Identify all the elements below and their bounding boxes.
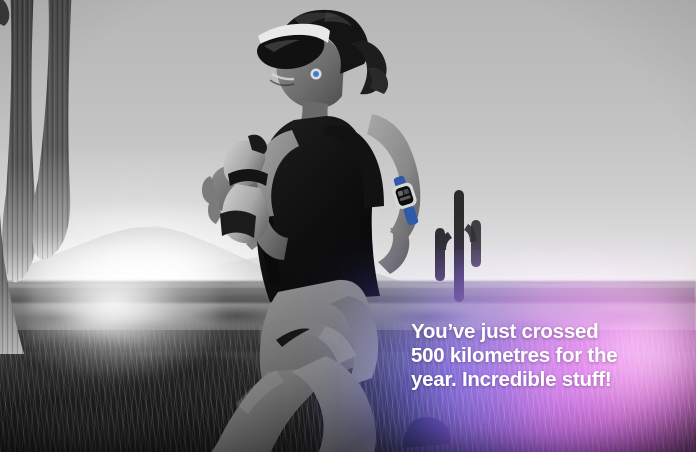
message-line-2: 500 kilometres for the [411, 344, 673, 368]
runner-head [257, 10, 388, 134]
message-line-1: You’ve just crossed [411, 320, 673, 344]
message-line-3: year. Incredible stuff! [411, 368, 673, 392]
saguaro-cactus-large [0, 0, 134, 354]
milestone-message: You’ve just crossed 500 kilometres for t… [411, 320, 673, 393]
running-shoe [402, 417, 450, 448]
promo-banner: You’ve just crossed 500 kilometres for t… [0, 0, 696, 452]
